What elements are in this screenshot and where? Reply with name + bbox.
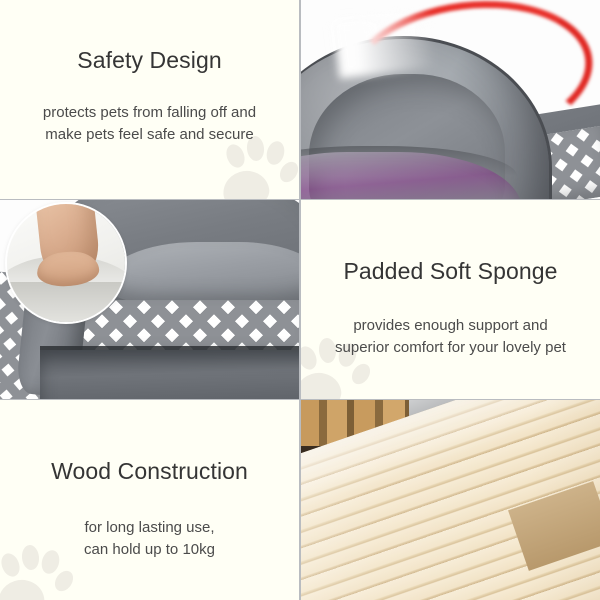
body-line: make pets feel safe and secure — [43, 124, 256, 146]
body-line: protects pets from falling off and — [43, 102, 256, 124]
foam-inset-circle — [7, 204, 125, 322]
foam-front-edge — [7, 282, 125, 322]
body-line: superior comfort for your lovely pet — [335, 337, 566, 359]
paw-print-icon — [0, 536, 76, 600]
sofa-base-panel — [40, 350, 299, 399]
body-line: provides enough support and — [335, 315, 566, 337]
panel-body-padded-soft-sponge: provides enough support and superior com… — [335, 315, 566, 359]
panel-sofa-backrest-photo — [301, 0, 600, 199]
panel-padded-soft-sponge: Padded Soft Sponge provides enough suppo… — [301, 200, 600, 399]
panel-wood-planks-photo — [301, 400, 600, 600]
panel-wood-construction: Wood Construction for long lasting use, … — [0, 400, 299, 600]
panel-title-wood-construction: Wood Construction — [51, 458, 248, 485]
panel-foam-press-photo — [0, 200, 299, 399]
panel-title-safety-design: Safety Design — [77, 47, 222, 74]
body-line: for long lasting use, — [84, 517, 215, 539]
panel-safety-design: Safety Design protects pets from falling… — [0, 0, 299, 199]
panel-body-safety-design: protects pets from falling off and make … — [43, 102, 256, 146]
panel-title-padded-soft-sponge: Padded Soft Sponge — [343, 258, 557, 285]
wood-planks-image — [301, 400, 600, 600]
foam-press-image — [0, 200, 299, 399]
sofa-backrest-image — [301, 0, 600, 199]
product-feature-infographic: Safety Design protects pets from falling… — [0, 0, 600, 600]
panel-body-wood-construction: for long lasting use, can hold up to 10k… — [84, 517, 215, 561]
body-line: can hold up to 10kg — [84, 539, 215, 561]
